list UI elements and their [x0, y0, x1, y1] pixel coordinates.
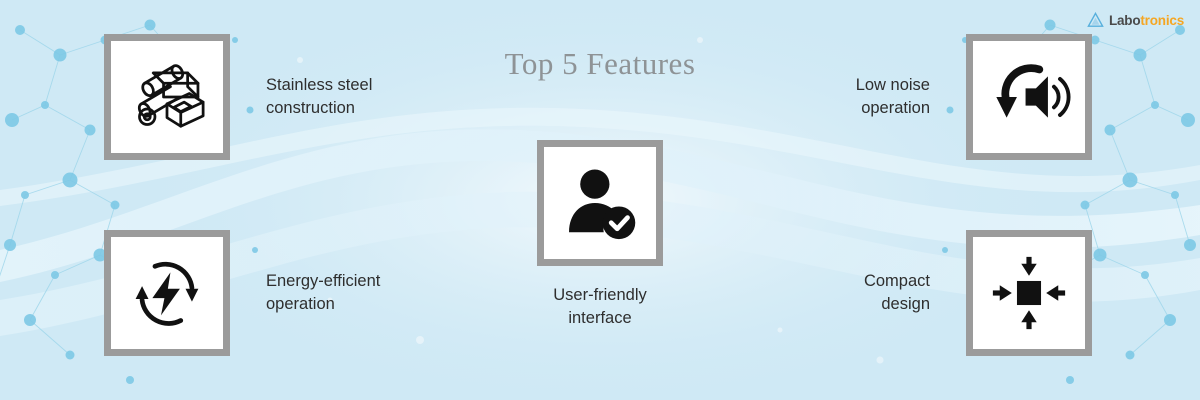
feature-energy-efficient-operation: Energy-efficient operation [104, 230, 380, 356]
energy-recycle-icon [124, 250, 210, 336]
icon-box [104, 230, 230, 356]
feature-user-friendly-interface: User-friendly interface [537, 140, 663, 331]
brand-name-part1: Labo [1109, 13, 1140, 28]
page-title: Top 5 Features [0, 46, 1200, 82]
user-check-icon [557, 160, 643, 246]
feature-compact-design: Compact design [864, 230, 1092, 356]
brand-logo[interactable]: Labotronics [1087, 12, 1184, 29]
icon-box [537, 140, 663, 266]
icon-box [966, 230, 1092, 356]
triangle-logo-mark-icon [1087, 12, 1104, 29]
feature-label: Compact design [864, 270, 930, 317]
infographic-canvas: Labotronics Top 5 Features [0, 0, 1200, 400]
feature-label: Energy-efficient operation [266, 270, 380, 317]
compact-arrows-icon [986, 250, 1072, 336]
feature-label: User-friendly interface [553, 284, 647, 331]
brand-name-accent: tronics [1140, 13, 1184, 28]
brand-name: Labotronics [1109, 13, 1184, 28]
